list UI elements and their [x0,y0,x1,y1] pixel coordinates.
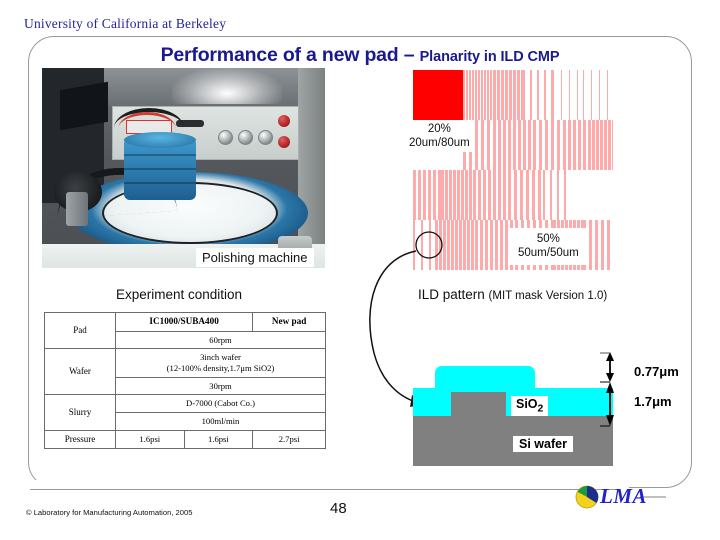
experiment-condition-heading: Experiment condition [116,287,242,302]
photo-light-glare [172,68,282,104]
table-cell-pad-new: New pad [253,313,326,332]
photo-control-knob [218,130,233,145]
ild-cell-striped [493,70,523,120]
ild-cell-striped [543,170,568,220]
ild-cell-solid [413,70,463,120]
table-cell-wafer-spec: 3inch wafer (12-100% density,1.7μm SiO2) [116,349,326,377]
dimension-label-top: 0.77μm [634,364,679,379]
polishing-machine-photo [42,68,325,268]
xsec-oxide-bump [435,366,535,392]
photo-dark-bracket [60,82,108,130]
photo-arm-post [66,192,88,226]
cross-section-diagram: SiO2 Si wafer [413,352,613,466]
dim-arrow-down-icon [606,373,614,382]
photo-caption: Polishing machine [196,248,314,267]
xsec-oxide-label: SiO2 [511,396,548,416]
ild-cell-striped [533,120,563,170]
callout-circle-marker [416,232,442,258]
page-title: Performance of a new pad – Planarity in … [60,44,660,67]
page-number: 48 [330,500,347,517]
wafer-spec-line2: (12-100% density,1.7μm SiO2) [167,363,275,373]
ild-density-label-20: 20% 20um/80um [404,120,475,152]
ild-cell-striped [498,120,533,170]
ild-caption-sub: (MIT mask Version 1.0) [489,290,608,302]
table-cell-pad-reference: IC1000/SUBA400 [116,313,253,332]
xsec-substrate-step [451,392,506,416]
photo-stop-button [278,136,290,148]
wafer-spec-line1: 3inch wafer [200,352,241,362]
photo-carrier-groove [124,154,196,156]
table-cell-slurry-flow: 100ml/min [116,413,326,431]
table-rowheader-pad: Pad [45,313,116,349]
photo-carrier-groove [124,168,196,170]
ild-label-20-pitch: 20um/80um [409,136,470,150]
ild-cell-striped [463,70,493,120]
table-cell-slurry-type: D-7000 (Cabot Co.) [116,395,326,413]
table-row: Pad IC1000/SUBA400 New pad [45,313,326,332]
ild-cell-striped [413,170,441,220]
ild-cell-striped [523,70,553,120]
table-cell-pressure-3: 2.7psi [253,430,326,448]
xsec-oxide-label-text: SiO [516,397,538,411]
ild-density-label-50: 50% 50um/50um [508,228,589,265]
page-title-sub: Planarity in ILD CMP [420,49,560,65]
ild-cell-striped [473,170,508,220]
ild-cell-striped [563,120,588,170]
table-cell-pressure-1: 1.6psi [116,430,185,448]
ild-cell-striped [583,70,613,120]
xsec-oxide-label-subscript: 2 [538,404,544,415]
table-row: Wafer 3inch wafer (12-100% density,1.7μm… [45,349,326,377]
footer-copyright: © Laboratory for Manufacturing Automatio… [26,508,192,517]
table-row: Slurry D-7000 (Cabot Co.) [45,395,326,413]
experiment-condition-table: Pad IC1000/SUBA400 New pad 60rpm Wafer 3… [44,312,326,449]
photo-carrier-top [124,132,196,148]
dim-arrow-down2-icon [606,415,614,426]
dimension-label-bottom: 1.7μm [634,394,672,409]
ild-cell-striped [553,70,583,120]
ild-label-50-percent: 50% [518,232,579,246]
callout-curve [370,251,416,402]
footer-divider [30,489,616,490]
table-row: Pressure 1.6psi 1.6psi 2.7psi [45,430,326,448]
table-cell-pad-speed: 60rpm [116,331,326,349]
university-header: University of California at Berkeley [24,16,226,32]
photo-carrier-groove [124,182,196,184]
ild-label-20-percent: 20% [409,122,470,136]
photo-control-knob [238,130,253,145]
xsec-wafer-label: Si wafer [513,436,573,452]
ild-cell-striped [588,120,613,170]
ild-cell-striped [441,170,473,220]
photo-control-knob [258,130,273,145]
page-title-main: Performance of a new pad [161,44,404,66]
table-cell-wafer-speed: 30rpm [116,377,326,395]
page-title-dash: – [404,44,420,66]
lma-logo-text: LMA [600,484,647,509]
ild-label-50-pitch: 50um/50um [518,246,579,260]
photo-power-button [278,115,290,127]
table-cell-pressure-2: 1.6psi [184,430,253,448]
ild-cell-striped [508,170,543,220]
dim-arrow-up2-icon [606,382,614,393]
table-rowheader-slurry: Slurry [45,395,116,430]
table-rowheader-wafer: Wafer [45,349,116,395]
table-rowheader-pressure: Pressure [45,430,116,448]
ild-cell-blank [568,170,613,220]
